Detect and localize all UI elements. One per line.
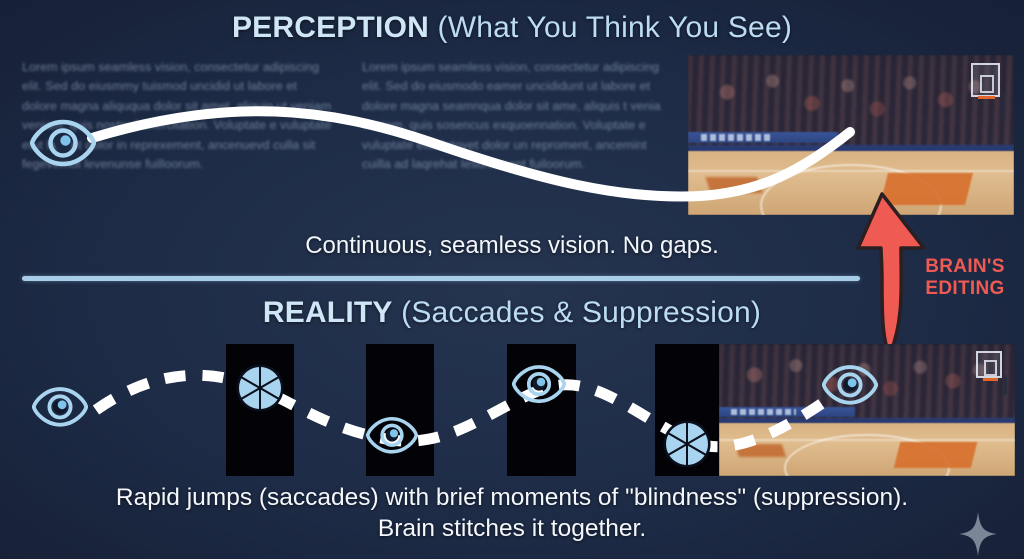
reality-caption-line-1: Rapid jumps (saccades) with brief moment…: [0, 482, 1024, 513]
saccade-dashed-path: [0, 0, 1024, 559]
aperture-icon: [234, 362, 286, 419]
reality-caption: Rapid jumps (saccades) with brief moment…: [0, 482, 1024, 544]
aperture-icon: [661, 418, 713, 475]
infographic-canvas: PERCEPTION (What You Think You See) Lore…: [0, 0, 1024, 559]
sparkle-icon: [958, 512, 998, 556]
reality-caption-line-2: Brain stitches it together.: [0, 513, 1024, 544]
eye-icon: [366, 414, 418, 462]
eye-icon: [32, 384, 88, 435]
eye-icon: [512, 362, 566, 411]
eye-icon: [822, 362, 878, 413]
